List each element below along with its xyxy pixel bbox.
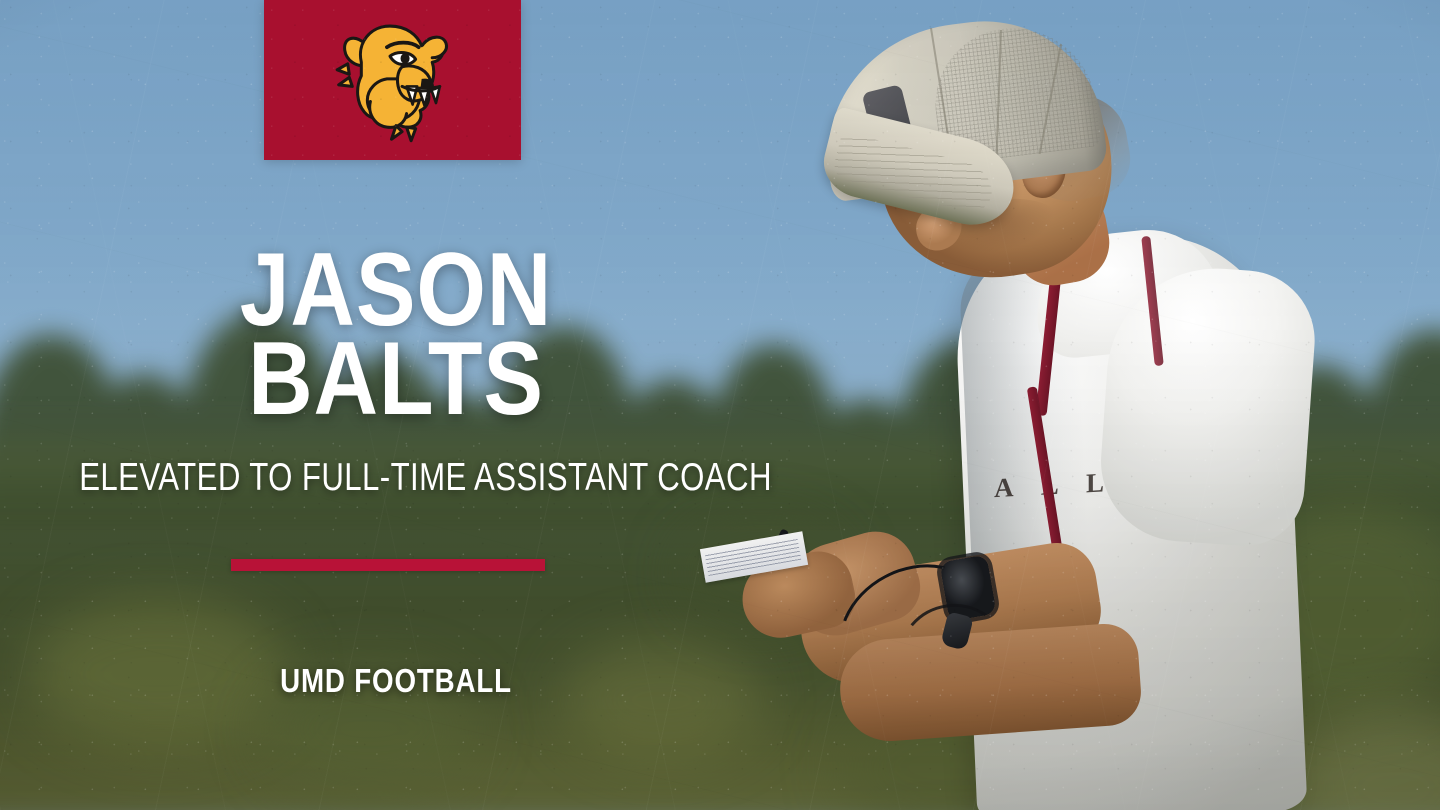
announcement-graphic: A L L [0, 0, 1440, 810]
bulldog-eye [389, 53, 415, 65]
accent-divider [231, 559, 545, 571]
headline-last-name: BALTS [55, 335, 736, 424]
bulldog-head-icon [317, 14, 469, 146]
page-title: JASON BALTS [0, 246, 792, 425]
program-tagline: UMD FOOTBALL [63, 662, 728, 700]
subtitle: ELEVATED TO FULL-TIME ASSISTANT COACH [79, 456, 713, 500]
umd-bulldog-logo [264, 0, 521, 160]
